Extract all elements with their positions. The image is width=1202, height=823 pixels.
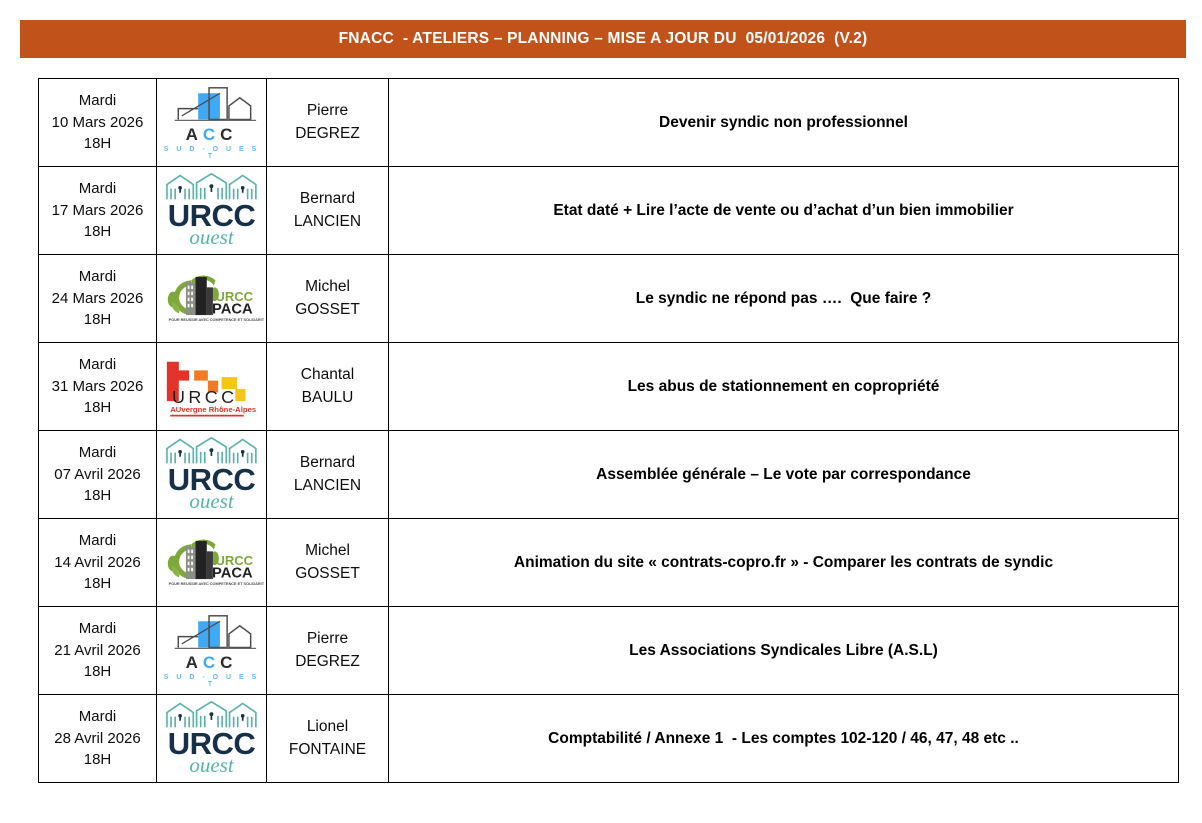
table-row: Mardi 21 Avril 2026 18H	[39, 607, 1179, 695]
acc-building-icon	[162, 86, 262, 124]
table-row: Mardi 24 Mars 2026 18H	[39, 255, 1179, 343]
acc-subtitle: S U D - O U E S T	[162, 674, 262, 688]
urcc-paca-icon: URCC PACA POUR REUSSIR AVEC COMPETENCE E…	[160, 268, 264, 324]
table-row: Mardi 10 Mars 2026 18H	[39, 79, 1179, 167]
page-header-banner: FNACC - ATELIERS – PLANNING – MISE A JOU…	[20, 20, 1186, 58]
row-logo-urcc-ouest: URCC ouest	[157, 695, 267, 783]
planning-page: FNACC - ATELIERS – PLANNING – MISE A JOU…	[0, 0, 1202, 823]
row-topic: Les abus de stationnement en copropriété	[389, 343, 1179, 431]
urcc-houses-icon	[162, 437, 261, 465]
row-topic: Les Associations Syndicales Libre (A.S.L…	[389, 607, 1179, 695]
row-speaker: Pierre DEGREZ	[267, 79, 389, 167]
row-speaker: Lionel FONTAINE	[267, 695, 389, 783]
row-logo-urcc-paca: URCC PACA POUR REUSSIR AVEC COMPETENCE E…	[157, 519, 267, 607]
urcc-houses-icon	[162, 173, 261, 201]
row-speaker: Michel GOSSET	[267, 519, 389, 607]
table-row: Mardi 07 Avril 2026 18H	[39, 431, 1179, 519]
row-speaker: Bernard LANCIEN	[267, 431, 389, 519]
row-topic: Assemblée générale – Le vote par corresp…	[389, 431, 1179, 519]
row-date: Mardi 17 Mars 2026 18H	[39, 167, 157, 255]
row-topic: Comptabilité / Annexe 1 - Les comptes 10…	[389, 695, 1179, 783]
schedule-table-body: Mardi 10 Mars 2026 18H	[39, 79, 1179, 783]
acc-letter-c2: C	[220, 125, 237, 144]
row-logo-urcc-paca: URCC PACA POUR REUSSIR AVEC COMPETENCE E…	[157, 255, 267, 343]
row-speaker: Bernard LANCIEN	[267, 167, 389, 255]
acc-wordmark: ACC	[162, 654, 262, 671]
row-logo-urcc-ouest: URCC ouest	[157, 431, 267, 519]
table-row: Mardi 31 Mars 2026 18H URCC AUvergne Rhô…	[39, 343, 1179, 431]
row-date: Mardi 21 Avril 2026 18H	[39, 607, 157, 695]
row-date: Mardi 07 Avril 2026 18H	[39, 431, 157, 519]
urcc-houses-icon	[162, 701, 261, 729]
row-date: Mardi 24 Mars 2026 18H	[39, 255, 157, 343]
row-topic: Etat daté + Lire l’acte de vente ou d’ac…	[389, 167, 1179, 255]
row-date: Mardi 14 Avril 2026 18H	[39, 519, 157, 607]
urcc-paca-icon: URCC PACA POUR REUSSIR AVEC COMPETENCE E…	[160, 532, 264, 588]
table-row: Mardi 17 Mars 2026 18H	[39, 167, 1179, 255]
row-speaker: Michel GOSSET	[267, 255, 389, 343]
table-row: Mardi 28 Avril 2026 18H	[39, 695, 1179, 783]
acc-wordmark: ACC	[162, 126, 262, 143]
paca-tagline: POUR REUSSIR AVEC COMPETENCE ET SOLIDARI…	[168, 318, 263, 322]
paca-wordmark-paca: PACA	[212, 565, 253, 581]
acc-letter-c1: C	[203, 125, 220, 144]
aura-wordmark: URCC	[171, 387, 237, 407]
page-title: FNACC - ATELIERS – PLANNING – MISE A JOU…	[339, 30, 868, 48]
row-topic: Animation du site « contrats-copro.fr » …	[389, 519, 1179, 607]
acc-building-icon	[162, 614, 262, 652]
row-logo-urcc-auvergne: URCC AUvergne Rhône-Alpes	[157, 343, 267, 431]
row-logo-acc-sud-ouest: ACC S U D - O U E S T	[157, 79, 267, 167]
acc-letter-a: A	[186, 125, 203, 144]
acc-letter-c1: C	[203, 653, 220, 672]
table-row: Mardi 14 Avril 2026 18H	[39, 519, 1179, 607]
acc-letter-c2: C	[220, 653, 237, 672]
row-logo-urcc-ouest: URCC ouest	[157, 167, 267, 255]
schedule-table: Mardi 10 Mars 2026 18H	[38, 78, 1179, 783]
row-logo-acc-sud-ouest: ACC S U D - O U E S T	[157, 607, 267, 695]
row-date: Mardi 28 Avril 2026 18H	[39, 695, 157, 783]
paca-wordmark-paca: PACA	[212, 301, 253, 317]
aura-subtitle: AUvergne Rhône-Alpes	[170, 405, 256, 414]
acc-subtitle: S U D - O U E S T	[162, 146, 262, 160]
row-date: Mardi 31 Mars 2026 18H	[39, 343, 157, 431]
acc-letter-a: A	[186, 653, 203, 672]
row-topic: Devenir syndic non professionnel	[389, 79, 1179, 167]
paca-tagline: POUR REUSSIR AVEC COMPETENCE ET SOLIDARI…	[168, 582, 263, 586]
row-date: Mardi 10 Mars 2026 18H	[39, 79, 157, 167]
row-speaker: Pierre DEGREZ	[267, 607, 389, 695]
urcc-aura-icon: URCC AUvergne Rhône-Alpes	[160, 351, 266, 417]
row-speaker: Chantal BAULU	[267, 343, 389, 431]
row-topic: Le syndic ne répond pas …. Que faire ?	[389, 255, 1179, 343]
